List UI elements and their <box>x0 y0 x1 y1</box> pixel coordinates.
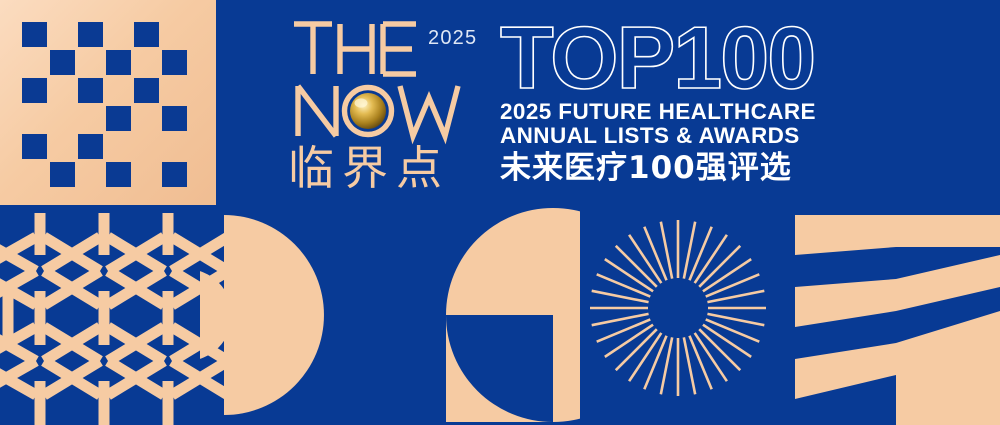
logo-word-the <box>294 24 416 74</box>
gold-orb <box>349 92 388 131</box>
diagonal-stripes-pattern <box>789 205 1000 425</box>
checker-cell <box>162 162 187 187</box>
english-title-line-2: ANNUAL LISTS & AWARDS <box>500 124 845 147</box>
checker-cell <box>50 162 75 187</box>
logo-year-superscript: 2025 <box>428 27 477 49</box>
checker-cell <box>162 50 187 75</box>
english-title-line-1: 2025 FUTURE HEALTHCARE <box>500 100 845 123</box>
checker-cell <box>78 78 103 103</box>
checker-cell <box>106 162 131 187</box>
checker-cell <box>134 22 159 47</box>
top100-outline-text: TOP100 <box>500 8 814 107</box>
checker-cell <box>78 134 103 159</box>
checker-cell <box>106 106 131 131</box>
checker-cell <box>106 50 131 75</box>
hexagon-lattice-pattern <box>0 205 232 425</box>
starburst-pattern <box>588 218 768 398</box>
checker-cell <box>22 78 47 103</box>
checker-cell <box>162 106 187 131</box>
checker-cell <box>22 22 47 47</box>
chinese-subtitle: 未来医疗100强评选 <box>500 151 845 185</box>
checkerboard-pattern <box>0 0 216 205</box>
the-now-logo: 2025 临界点 <box>288 18 488 190</box>
checker-cell <box>134 78 159 103</box>
circle-shapes-group <box>200 205 580 425</box>
title-block: TOP100 2025 FUTURE HEALTHCARE ANNUAL LIS… <box>500 18 845 190</box>
banner-root: 2025 临界点 <box>0 0 1000 425</box>
top100-heading: TOP100 <box>500 18 845 98</box>
logo-chinese-name: 临界点 <box>288 141 450 195</box>
checker-cell <box>22 134 47 159</box>
checker-cell <box>50 50 75 75</box>
checker-cell <box>78 22 103 47</box>
